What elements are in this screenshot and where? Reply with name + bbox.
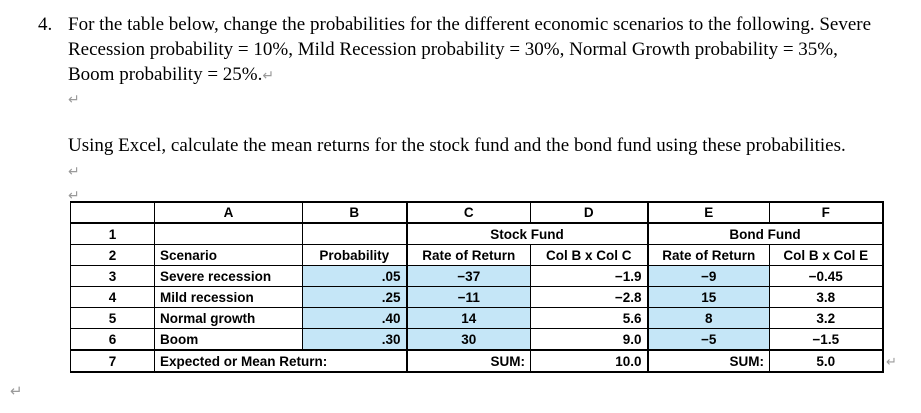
table-row: 1 Stock Fund Bond Fund bbox=[71, 223, 883, 245]
table-row: 6 Boom .30 30 9.0 −5 −1.5 bbox=[71, 329, 883, 351]
question-block: 4. For the table below, change the proba… bbox=[38, 12, 888, 207]
spreadsheet-table: A B C D E F 1 Stock Fund Bond Fund 2 Sce… bbox=[70, 201, 884, 373]
cell-stock-fund-header[interactable]: Stock Fund bbox=[407, 223, 648, 245]
cell-b6-probability[interactable]: .30 bbox=[303, 329, 407, 351]
column-letter-b: B bbox=[303, 202, 407, 223]
cell-d5-stock-product[interactable]: 5.6 bbox=[531, 308, 648, 329]
empty-paragraph-line-1: ↵ bbox=[68, 89, 888, 111]
cell-d6-stock-product[interactable]: 9.0 bbox=[531, 329, 648, 351]
cell-e3-bond-return[interactable]: −9 bbox=[648, 266, 770, 287]
paragraph-mark-icon: ↵ bbox=[68, 164, 80, 180]
cell-a2-scenario-header[interactable]: Scenario bbox=[155, 245, 303, 266]
question-first-paragraph-row: 4. For the table below, change the proba… bbox=[38, 12, 888, 89]
question-paragraph-2-text: Using Excel, calculate the mean returns … bbox=[68, 135, 846, 156]
cell-b3-probability[interactable]: .05 bbox=[303, 266, 407, 287]
column-letter-a: A bbox=[155, 202, 303, 223]
cell-c4-stock-return[interactable]: −11 bbox=[407, 287, 531, 308]
paragraph-mark-icon: ↵ bbox=[10, 382, 23, 400]
cell-c7-stock-sum-label[interactable]: SUM: bbox=[407, 350, 531, 372]
cell-expected-mean-return-label[interactable]: Expected or Mean Return: bbox=[155, 350, 407, 372]
sheet-corner-cell bbox=[71, 202, 155, 223]
cell-e5-bond-return[interactable]: 8 bbox=[648, 308, 770, 329]
cell-d7-stock-sum-value[interactable]: 10.0 bbox=[531, 350, 648, 372]
cell-e2-bond-rate-header[interactable]: Rate of Return bbox=[648, 245, 770, 266]
cell-b5-probability[interactable]: .40 bbox=[303, 308, 407, 329]
row-number-3: 3 bbox=[71, 266, 155, 287]
cell-e6-bond-return[interactable]: −5 bbox=[648, 329, 770, 351]
row-number-2: 2 bbox=[71, 245, 155, 266]
cell-f7-bond-sum-value[interactable]: 5.0 bbox=[770, 350, 883, 372]
cell-f5-bond-product[interactable]: 3.2 bbox=[770, 308, 883, 329]
spreadsheet-table-wrapper: A B C D E F 1 Stock Fund Bond Fund 2 Sce… bbox=[70, 201, 882, 373]
table-row: 3 Severe recession .05 −37 −1.9 −9 −0.45 bbox=[71, 266, 883, 287]
row-number-5: 5 bbox=[71, 308, 155, 329]
table-row: 7 Expected or Mean Return: SUM: 10.0 SUM… bbox=[71, 350, 883, 372]
row-number-4: 4 bbox=[71, 287, 155, 308]
cell-d3-stock-product[interactable]: −1.9 bbox=[531, 266, 648, 287]
cell-f4-bond-product[interactable]: 3.8 bbox=[770, 287, 883, 308]
table-row: 4 Mild recession .25 −11 −2.8 15 3.8 bbox=[71, 287, 883, 308]
cell-bond-fund-header[interactable]: Bond Fund bbox=[648, 223, 883, 245]
cell-a5-scenario[interactable]: Normal growth bbox=[155, 308, 303, 329]
cell-d4-stock-product[interactable]: −2.8 bbox=[531, 287, 648, 308]
cell-b2-probability-header[interactable]: Probability bbox=[303, 245, 407, 266]
question-paragraph-2: Using Excel, calculate the mean returns … bbox=[68, 133, 858, 185]
cell-d2-stock-product-header[interactable]: Col B x Col C bbox=[531, 245, 648, 266]
row-number-6: 6 bbox=[71, 329, 155, 351]
column-letter-d: D bbox=[531, 202, 648, 223]
cell-c2-stock-rate-header[interactable]: Rate of Return bbox=[407, 245, 531, 266]
question-number: 4. bbox=[38, 12, 68, 37]
cell-a6-scenario[interactable]: Boom bbox=[155, 329, 303, 351]
question-paragraph-1: For the table below, change the probabil… bbox=[68, 12, 888, 89]
cell-f6-bond-product[interactable]: −1.5 bbox=[770, 329, 883, 351]
cell-f2-bond-product-header[interactable]: Col B x Col E bbox=[770, 245, 883, 266]
column-letter-f: F bbox=[770, 202, 883, 223]
cell-a3-scenario[interactable]: Severe recession bbox=[155, 266, 303, 287]
paragraph-mark-icon: ↵ bbox=[262, 68, 274, 84]
cell-a4-scenario[interactable]: Mild recession bbox=[155, 287, 303, 308]
cell-c5-stock-return[interactable]: 14 bbox=[407, 308, 531, 329]
cell-e7-bond-sum-label[interactable]: SUM: bbox=[648, 350, 770, 372]
row-number-1: 1 bbox=[71, 223, 155, 245]
paragraph-mark-icon: ↵ bbox=[886, 355, 897, 370]
cell-e4-bond-return[interactable]: 15 bbox=[648, 287, 770, 308]
table-row: 2 Scenario Probability Rate of Return Co… bbox=[71, 245, 883, 266]
table-row: 5 Normal growth .40 14 5.6 8 3.2 bbox=[71, 308, 883, 329]
cell-b1[interactable] bbox=[303, 223, 407, 245]
row-number-7: 7 bbox=[71, 350, 155, 372]
cell-f3-bond-product[interactable]: −0.45 bbox=[770, 266, 883, 287]
cell-b4-probability[interactable]: .25 bbox=[303, 287, 407, 308]
cell-a1[interactable] bbox=[155, 223, 303, 245]
question-paragraph-1-text: For the table below, change the probabil… bbox=[68, 14, 871, 85]
column-letter-e: E bbox=[648, 202, 770, 223]
column-letter-c: C bbox=[407, 202, 531, 223]
paragraph-mark-icon: ↵ bbox=[68, 92, 80, 108]
cell-c3-stock-return[interactable]: −37 bbox=[407, 266, 531, 287]
column-letter-header-row: A B C D E F bbox=[71, 202, 883, 223]
cell-c6-stock-return[interactable]: 30 bbox=[407, 329, 531, 351]
